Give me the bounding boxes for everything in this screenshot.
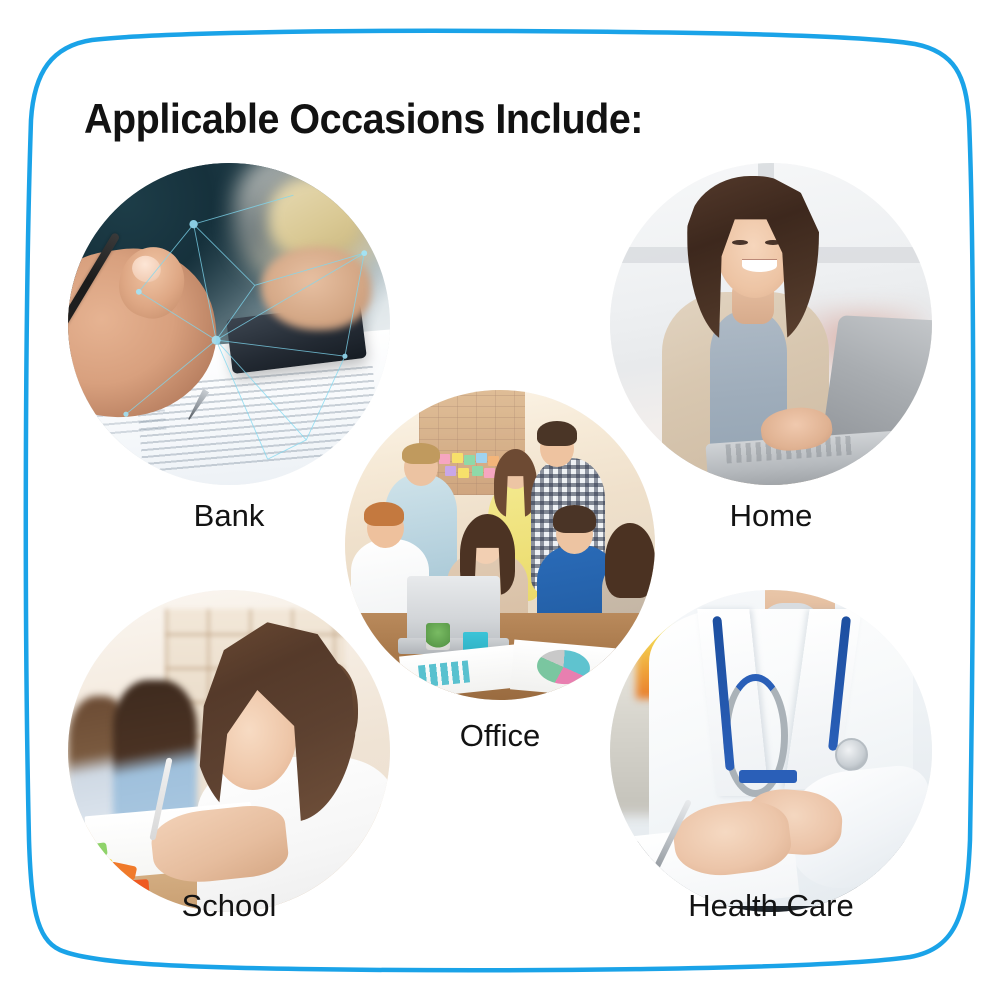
health-care-stethoscope-clip — [739, 770, 797, 783]
office-sticky-note — [452, 453, 463, 463]
office-sticky-note — [472, 466, 483, 476]
office-plant — [426, 623, 451, 651]
occasion-photo-health-care — [610, 590, 932, 912]
office-scene — [345, 390, 655, 700]
poster-canvas: Applicable Occasions Include: — [0, 0, 1000, 1000]
office-sticky-note — [439, 454, 450, 464]
office-hair-blue-sweater — [553, 505, 596, 533]
page-title: Applicable Occasions Include: — [84, 96, 643, 142]
occasion-photo-office — [345, 390, 655, 700]
health-care-scene — [610, 590, 932, 912]
office-hair-right-woman — [605, 523, 655, 597]
home-scene — [610, 163, 932, 485]
occasion-label-home: Home — [610, 499, 932, 533]
office-hair-plaid — [537, 421, 577, 446]
school-scene — [68, 590, 390, 912]
school-classmate-near — [113, 680, 197, 822]
office-hair-standing-left — [402, 443, 439, 465]
occasion-label-bank: Bank — [68, 499, 390, 533]
office-sticky-note — [476, 453, 487, 463]
office-sticky-note — [484, 468, 495, 478]
occasion-photo-home — [610, 163, 932, 485]
occasion-label-school: School — [68, 889, 390, 923]
office-sticky-note — [445, 466, 456, 476]
bank-scene — [68, 163, 390, 485]
office-hair-glasses-left — [364, 502, 404, 527]
occasion-photo-bank — [68, 163, 390, 485]
occasion-photo-school — [68, 590, 390, 912]
office-sticky-note — [458, 468, 469, 478]
bank-network-overlay — [68, 163, 390, 485]
occasion-label-health-care: Health Care — [610, 889, 932, 923]
occasion-label-office: Office — [345, 719, 655, 753]
office-sticky-note — [464, 455, 475, 465]
